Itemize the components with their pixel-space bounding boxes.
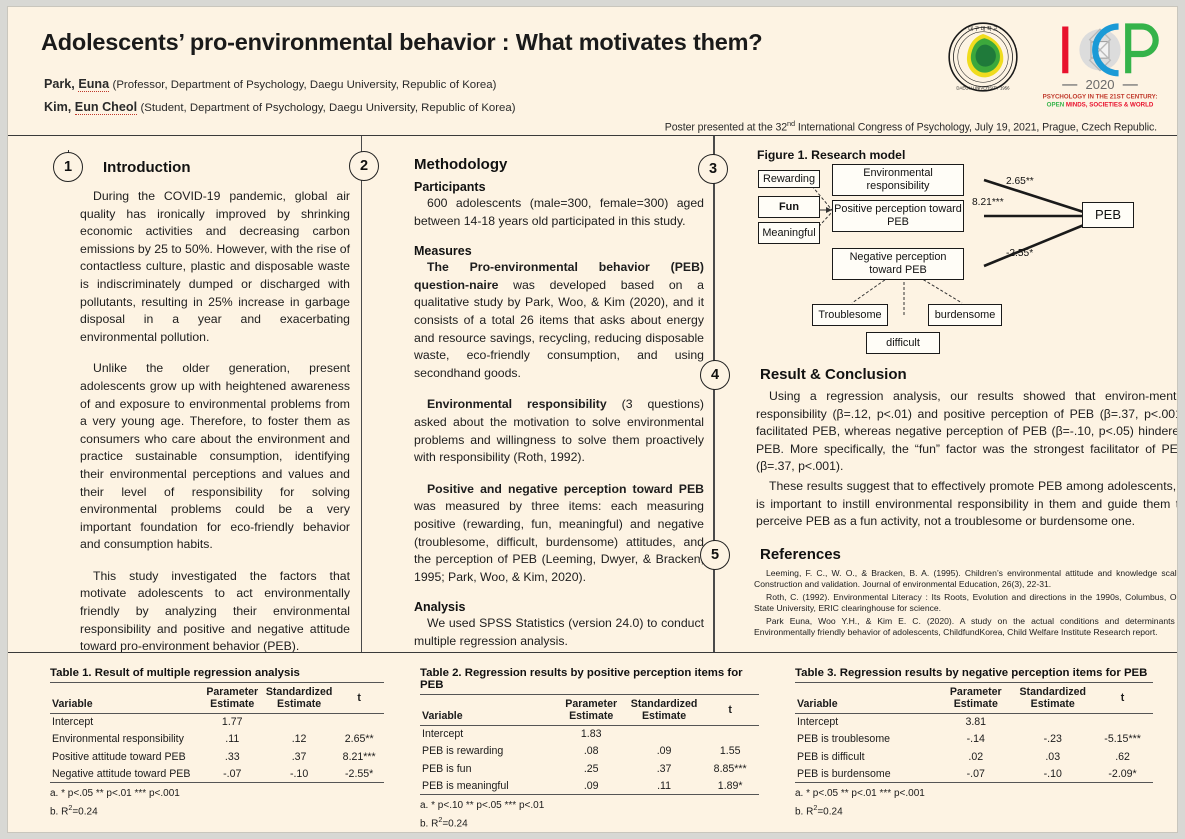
cell-parameter: 1.83 — [556, 725, 627, 743]
table-body: Intercept1.83 PEB is rewarding.08.091.55… — [420, 725, 759, 795]
regression-table: Variable Parameter Estimate Standardized… — [795, 682, 1153, 783]
section-number-badge: 5 — [700, 540, 730, 570]
cell-parameter: -.14 — [938, 731, 1013, 748]
cell-variable: Intercept — [50, 713, 201, 731]
reference-item: Leeming, F. C., W. O., & Bracken, B. A. … — [754, 568, 1178, 591]
section-title: References — [760, 546, 841, 563]
cell-parameter: .33 — [201, 748, 264, 765]
table-row: PEB is fun.25.378.85*** — [420, 760, 759, 777]
table-body: Intercept1.77 Environmental responsibili… — [50, 713, 384, 783]
table-head: Variable Parameter Estimate Standardized… — [795, 683, 1153, 714]
table-head: Variable Parameter Estimate Standardized… — [420, 695, 759, 726]
section-header-methodology: 2 Methodology — [364, 148, 694, 180]
section-header-result: 4 Result & Conclusion — [716, 358, 1146, 390]
cell-standardized — [264, 713, 335, 731]
tables-row: Table 1. Result of multiple regression a… — [8, 653, 1177, 833]
svg-text:· 대 구 대 학 교 ·: · 대 구 대 학 교 · — [965, 25, 1001, 32]
reference-item: Park Euna, Woo Y.H., & Kim E. C. (2020).… — [754, 616, 1178, 639]
model-box-troublesome: Troublesome — [812, 304, 888, 326]
col-header-variable: Variable — [420, 695, 556, 726]
column-introduction: 1 Introduction During the COVID-19 pande… — [8, 136, 362, 652]
reference-list: Leeming, F. C., W. O., & Bracken, B. A. … — [754, 568, 1178, 639]
intro-paragraph: This study investigated the factors that… — [80, 568, 350, 656]
section-title: Methodology — [414, 156, 507, 173]
icp-2020-logo: 2020 PSYCHOLOGY IN THE 21ST CENTURY: OPE… — [1041, 21, 1159, 109]
subhead-analysis: Analysis — [414, 600, 704, 614]
model-box-burdensome: burdensome — [928, 304, 1002, 326]
cell-variable: PEB is burdensome — [795, 765, 938, 783]
section-number-badge: 3 — [698, 154, 728, 184]
table-row: PEB is burdensome-.07-.10-2.09* — [795, 765, 1153, 783]
model-box-fun: Fun — [758, 196, 820, 218]
cell-variable: PEB is fun — [420, 760, 556, 777]
column-methodology: 2 Methodology Participants 600 adolescen… — [362, 136, 714, 652]
author-affiliation: (Professor, Department of Psychology, Da… — [113, 79, 497, 91]
table-row: PEB is meaningful.09.111.89* — [420, 777, 759, 795]
model-box-rewarding: Rewarding — [758, 170, 820, 188]
research-model-diagram: Rewarding Fun Meaningful Environmental r… — [744, 164, 1178, 364]
table-note-significance: a. * p<.05 ** p<.01 *** p<.001 — [795, 787, 1153, 801]
column-results: Figure 1. Research model 3 — [714, 136, 1177, 652]
table-block-3: Table 3. Regression results by negative … — [773, 653, 1177, 833]
result-paragraph: Using a regression analysis, our results… — [756, 388, 1178, 476]
regression-table: Variable Parameter Estimate Standardized… — [50, 682, 384, 783]
col-header-t: t — [334, 683, 384, 714]
cell-standardized: -.10 — [264, 765, 335, 783]
author-row: Kim, Eun Cheol (Student, Department of P… — [44, 96, 516, 119]
table-note-r2: b. R2=0.24 — [420, 813, 759, 831]
author-affiliation: (Student, Department of Psychology, Daeg… — [141, 102, 516, 114]
poster-body: 1 Introduction During the COVID-19 pande… — [8, 136, 1177, 652]
table-body: Intercept3.81 PEB is troublesome-.14-.23… — [795, 713, 1153, 783]
svg-text:PSYCHOLOGY IN THE 21ST CENTURY: PSYCHOLOGY IN THE 21ST CENTURY: — [1043, 94, 1158, 101]
daegu-university-logo: · 대 구 대 학 교 · DAEGU UNIVERSITY 1956 — [947, 21, 1019, 93]
table-head: Variable Parameter Estimate Standardized… — [50, 683, 384, 714]
cell-t: -2.55* — [334, 765, 384, 783]
cell-t — [334, 713, 384, 731]
table-row: PEB is rewarding.08.091.55 — [420, 743, 759, 760]
cell-standardized: -.23 — [1013, 731, 1092, 748]
table-note: a. * p<.05 ** p<.01 *** p<.001 b. R2=0.2… — [50, 787, 384, 819]
table-row: Negative attitude toward PEB-.07-.10-2.5… — [50, 765, 384, 783]
cell-standardized: .11 — [627, 777, 702, 795]
participants-text: 600 adolescents (male=300, female=300) a… — [414, 195, 704, 230]
cell-variable: Intercept — [795, 713, 938, 731]
page-title: Adolescents’ pro-environmental behavior … — [41, 29, 762, 56]
table-note-significance: a. * p<.10 ** p<.05 *** p<.01 — [420, 799, 759, 813]
cell-t — [701, 725, 759, 743]
path-label-env-to-peb: 2.65** — [1006, 176, 1034, 187]
col-header-parameter-estimate: Parameter Estimate — [201, 683, 264, 714]
measure-peb: The Pro-environmental behavior (PEB) que… — [414, 259, 704, 382]
table-note-r2: b. R2=0.24 — [50, 801, 384, 819]
model-box-environmental-responsibility: Environmental responsibility — [832, 164, 964, 196]
cell-parameter: .09 — [556, 777, 627, 795]
cell-t: 8.21*** — [334, 748, 384, 765]
svg-text:DAEGU UNIVERSITY 1956: DAEGU UNIVERSITY 1956 — [956, 85, 1010, 90]
table-row: PEB is troublesome-.14-.23-5.15*** — [795, 731, 1153, 748]
measure-env-responsibility: Environmental responsibility (3 question… — [414, 396, 704, 466]
col-header-parameter-estimate: Parameter Estimate — [938, 683, 1013, 714]
col-header-t: t — [701, 695, 759, 726]
cell-parameter: 1.77 — [201, 713, 264, 731]
cell-standardized: -.10 — [1013, 765, 1092, 783]
cell-standardized — [1013, 713, 1092, 731]
table-row: Environmental responsibility.11.122.65** — [50, 731, 384, 748]
cell-t: 2.65** — [334, 731, 384, 748]
column-divider — [714, 136, 715, 652]
cell-variable: PEB is troublesome — [795, 731, 938, 748]
col-header-t: t — [1092, 683, 1153, 714]
model-box-peb: PEB — [1082, 202, 1134, 228]
table-row: Positive attitude toward PEB.33.378.21**… — [50, 748, 384, 765]
section-number-badge: 4 — [700, 360, 730, 390]
cell-t: -5.15*** — [1092, 731, 1153, 748]
cell-parameter: .08 — [556, 743, 627, 760]
measure-pos-neg-perception: Positive and negative perception toward … — [414, 481, 704, 587]
analysis-text: We used SPSS Statistics (version 24.0) t… — [414, 615, 704, 650]
poster-canvas: Adolescents’ pro-environmental behavior … — [7, 6, 1178, 833]
cell-standardized: .12 — [264, 731, 335, 748]
table-note-r2: b. R2=0.24 — [795, 801, 1153, 819]
author-name: Park, Euna — [44, 77, 109, 92]
cell-t: 1.55 — [701, 743, 759, 760]
cell-parameter: -.07 — [938, 765, 1013, 783]
table-title: Table 1. Result of multiple regression a… — [50, 667, 384, 679]
cell-parameter: .02 — [938, 748, 1013, 765]
table-row: Intercept1.77 — [50, 713, 384, 731]
table-title: Table 2. Regression results by positive … — [420, 667, 759, 691]
col-header-parameter-estimate: Parameter Estimate — [556, 695, 627, 726]
col-header-standardized-estimate: Standardized Estimate — [264, 683, 335, 714]
model-box-negative-perception: Negative perception toward PEB — [832, 248, 964, 280]
cell-standardized: .37 — [264, 748, 335, 765]
poster-header: Adolescents’ pro-environmental behavior … — [8, 7, 1177, 129]
regression-table: Variable Parameter Estimate Standardized… — [420, 694, 759, 795]
model-box-meaningful: Meaningful — [758, 222, 820, 244]
cell-variable: PEB is meaningful — [420, 777, 556, 795]
section-number-badge: 2 — [349, 151, 379, 181]
cell-standardized: .09 — [627, 743, 702, 760]
path-label-pos-to-peb: 8.21*** — [972, 197, 1004, 208]
table-block-2: Table 2. Regression results by positive … — [398, 653, 773, 833]
conference-note: Poster presented at the 32nd Internation… — [665, 119, 1157, 134]
cell-t: -2.09* — [1092, 765, 1153, 783]
cell-variable: Intercept — [420, 725, 556, 743]
section-header-introduction: 1 Introduction — [30, 151, 350, 183]
table-note: a. * p<.10 ** p<.05 *** p<.01 b. R2=0.24 — [420, 799, 759, 831]
cell-t: 8.85*** — [701, 760, 759, 777]
col-header-variable: Variable — [795, 683, 938, 714]
table-row: Intercept1.83 — [420, 725, 759, 743]
col-header-standardized-estimate: Standardized Estimate — [1013, 683, 1092, 714]
section-header-references: 5 References — [716, 538, 1146, 570]
subhead-participants: Participants — [414, 180, 704, 194]
author-list: Park, Euna (Professor, Department of Psy… — [44, 73, 516, 119]
methodology-body: Participants 600 adolescents (male=300, … — [414, 180, 704, 650]
intro-paragraph: Unlike the older generation, present ado… — [80, 360, 350, 554]
cell-variable: Positive attitude toward PEB — [50, 748, 201, 765]
model-box-positive-perception: Positive perception toward PEB — [832, 200, 964, 232]
model-box-difficult: difficult — [866, 332, 940, 354]
svg-text:OPEN MINDS, SOCIETIES & WORLD: OPEN MINDS, SOCIETIES & WORLD — [1047, 101, 1154, 108]
table-row: PEB is difficult.02.03.62 — [795, 748, 1153, 765]
cell-t: .62 — [1092, 748, 1153, 765]
cell-standardized: .03 — [1013, 748, 1092, 765]
table-row: Intercept3.81 — [795, 713, 1153, 731]
table-note: a. * p<.05 ** p<.01 *** p<.001 b. R2=0.2… — [795, 787, 1153, 819]
path-label-neg-to-peb: -2.55* — [1006, 248, 1033, 259]
cell-t — [1092, 713, 1153, 731]
author-row: Park, Euna (Professor, Department of Psy… — [44, 73, 516, 96]
cell-standardized: .37 — [627, 760, 702, 777]
cell-standardized — [627, 725, 702, 743]
table-block-1: Table 1. Result of multiple regression a… — [8, 653, 398, 833]
table-note-significance: a. * p<.05 ** p<.01 *** p<.001 — [50, 787, 384, 801]
col-header-standardized-estimate: Standardized Estimate — [627, 695, 702, 726]
cell-variable: PEB is rewarding — [420, 743, 556, 760]
subhead-measures: Measures — [414, 244, 704, 258]
cell-variable: Negative attitude toward PEB — [50, 765, 201, 783]
cell-variable: PEB is difficult — [795, 748, 938, 765]
section-title: Result & Conclusion — [760, 366, 907, 383]
introduction-body: During the COVID-19 pandemic, global air… — [80, 188, 350, 656]
logo-group: · 대 구 대 학 교 · DAEGU UNIVERSITY 1956 2020… — [947, 21, 1159, 109]
table-title: Table 3. Regression results by negative … — [795, 667, 1153, 679]
conclusion-paragraph: These results suggest that to effectivel… — [756, 478, 1178, 531]
intro-paragraph: During the COVID-19 pandemic, global air… — [80, 188, 350, 346]
cell-parameter: -.07 — [201, 765, 264, 783]
cell-parameter: 3.81 — [938, 713, 1013, 731]
figure-title: Figure 1. Research model — [757, 148, 905, 162]
cell-t: 1.89* — [701, 777, 759, 795]
svg-text:2020: 2020 — [1085, 77, 1114, 92]
section-title: Introduction — [103, 159, 190, 176]
cell-parameter: .11 — [201, 731, 264, 748]
col-header-variable: Variable — [50, 683, 201, 714]
cell-parameter: .25 — [556, 760, 627, 777]
author-name: Kim, Eun Cheol — [44, 100, 137, 115]
reference-item: Roth, C. (1992). Environmental Literacy … — [754, 592, 1178, 615]
section-number-badge: 1 — [53, 152, 83, 182]
cell-variable: Environmental responsibility — [50, 731, 201, 748]
result-body: Using a regression analysis, our results… — [756, 388, 1178, 531]
